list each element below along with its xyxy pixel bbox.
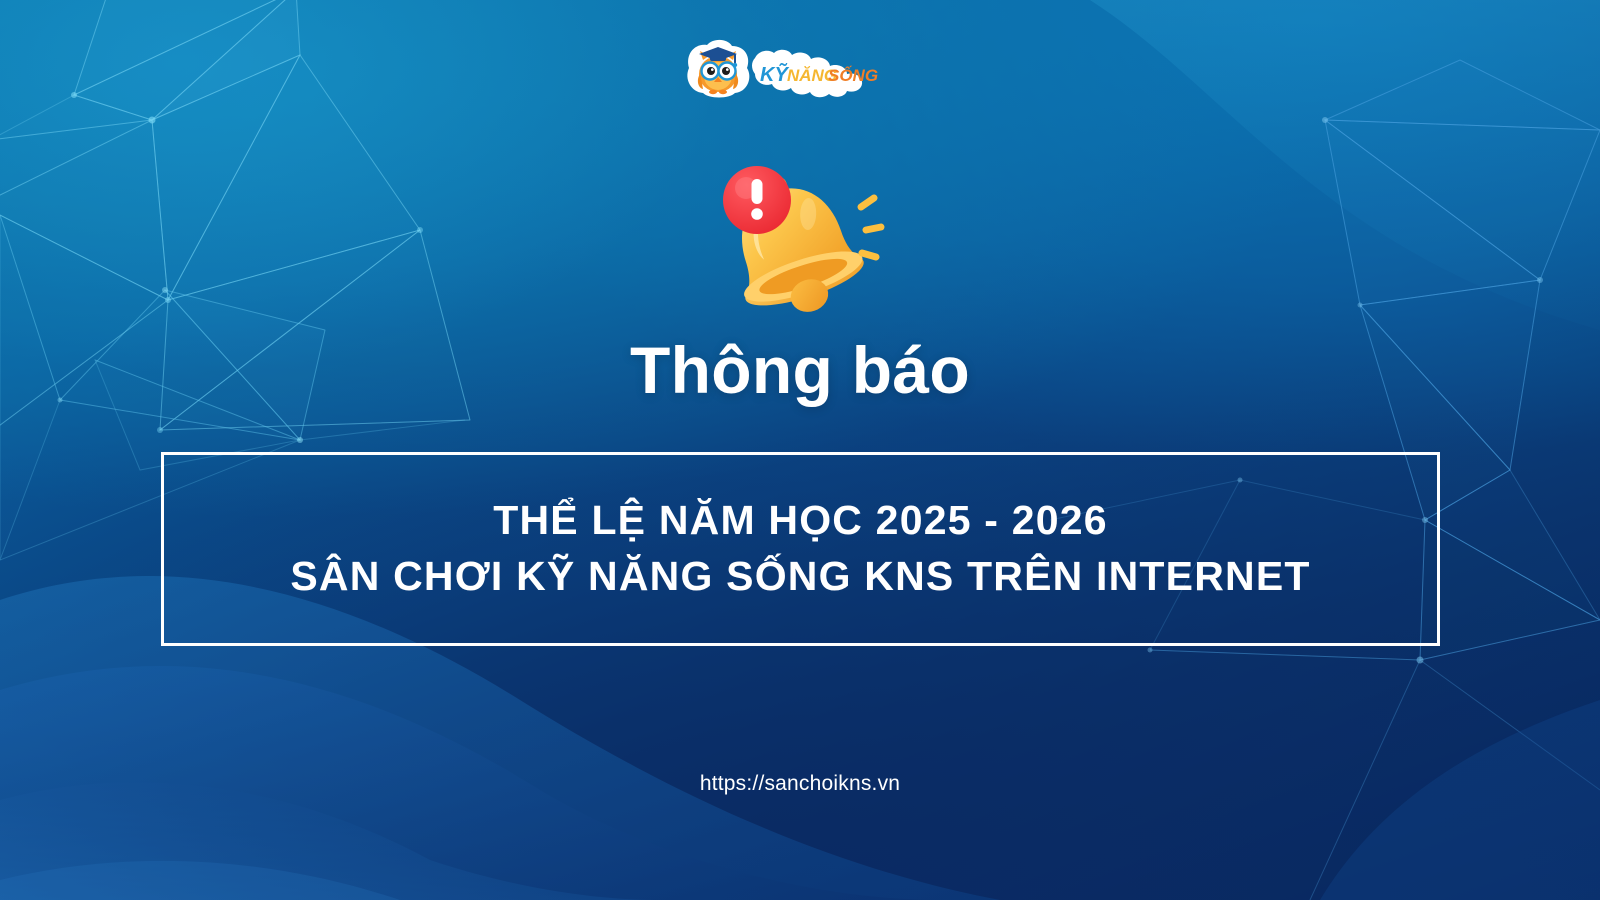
notification-bell-icon (694, 158, 894, 333)
brand-logo-graphic: KỸ NĂNG SỐNG (675, 38, 885, 100)
logo-word-ky: KỸ (760, 63, 789, 86)
badge-exclamation-stem (752, 179, 763, 204)
bell-alert-badge (723, 166, 791, 234)
logo-word-song: SỐNG (828, 66, 878, 85)
announcement-poster: KỸ NĂNG SỐNG (0, 0, 1600, 900)
badge-exclamation-dot (751, 208, 763, 220)
footer-website-url[interactable]: https://sanchoikns.vn (0, 772, 1600, 796)
bell-motion-lines (861, 198, 881, 257)
announcement-line-2: SÂN CHƠI KỸ NĂNG SỐNG KNS TRÊN INTERNET (290, 554, 1310, 600)
announcement-line-1: THỂ LỆ NĂM HỌC 2025 - 2026 (493, 498, 1108, 544)
background-decoration (0, 0, 1600, 900)
announcement-box: THỂ LỆ NĂM HỌC 2025 - 2026 SÂN CHƠI KỸ N… (161, 452, 1440, 646)
wave-bottom-right (1320, 700, 1600, 900)
brand-logo[interactable]: KỸ NĂNG SỐNG (675, 38, 885, 100)
logo-wordmark: KỸ NĂNG SỐNG (760, 63, 878, 86)
page-title: Thông báo (0, 336, 1600, 405)
